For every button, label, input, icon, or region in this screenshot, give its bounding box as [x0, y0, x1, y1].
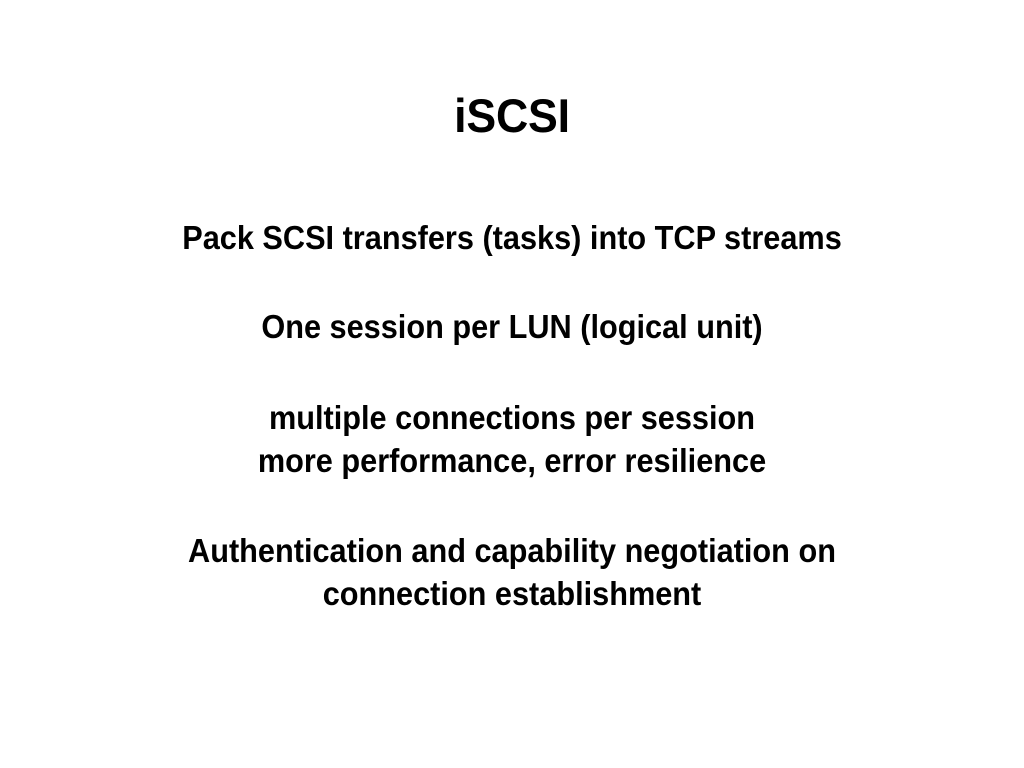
- slide-canvas: iSCSI Pack SCSI transfers (tasks) into T…: [0, 0, 1024, 768]
- body-line: Authentication and capability negotiatio…: [36, 529, 988, 572]
- body-line: multiple connections per session: [36, 396, 988, 439]
- body-line: connection establishment: [36, 572, 988, 615]
- body-block-multiple-connections: multiple connections per session more pe…: [36, 396, 988, 482]
- body-block-one-session-per-lun: One session per LUN (logical unit): [36, 305, 988, 348]
- body-block-pack-scsi-transfers: Pack SCSI transfers (tasks) into TCP str…: [36, 216, 988, 259]
- page-title: iSCSI: [26, 88, 999, 144]
- body-block-authentication-negotiation: Authentication and capability negotiatio…: [36, 529, 988, 615]
- body-line: Pack SCSI transfers (tasks) into TCP str…: [36, 216, 988, 259]
- body-line: more performance, error resilience: [36, 439, 988, 482]
- body-line: One session per LUN (logical unit): [36, 305, 988, 348]
